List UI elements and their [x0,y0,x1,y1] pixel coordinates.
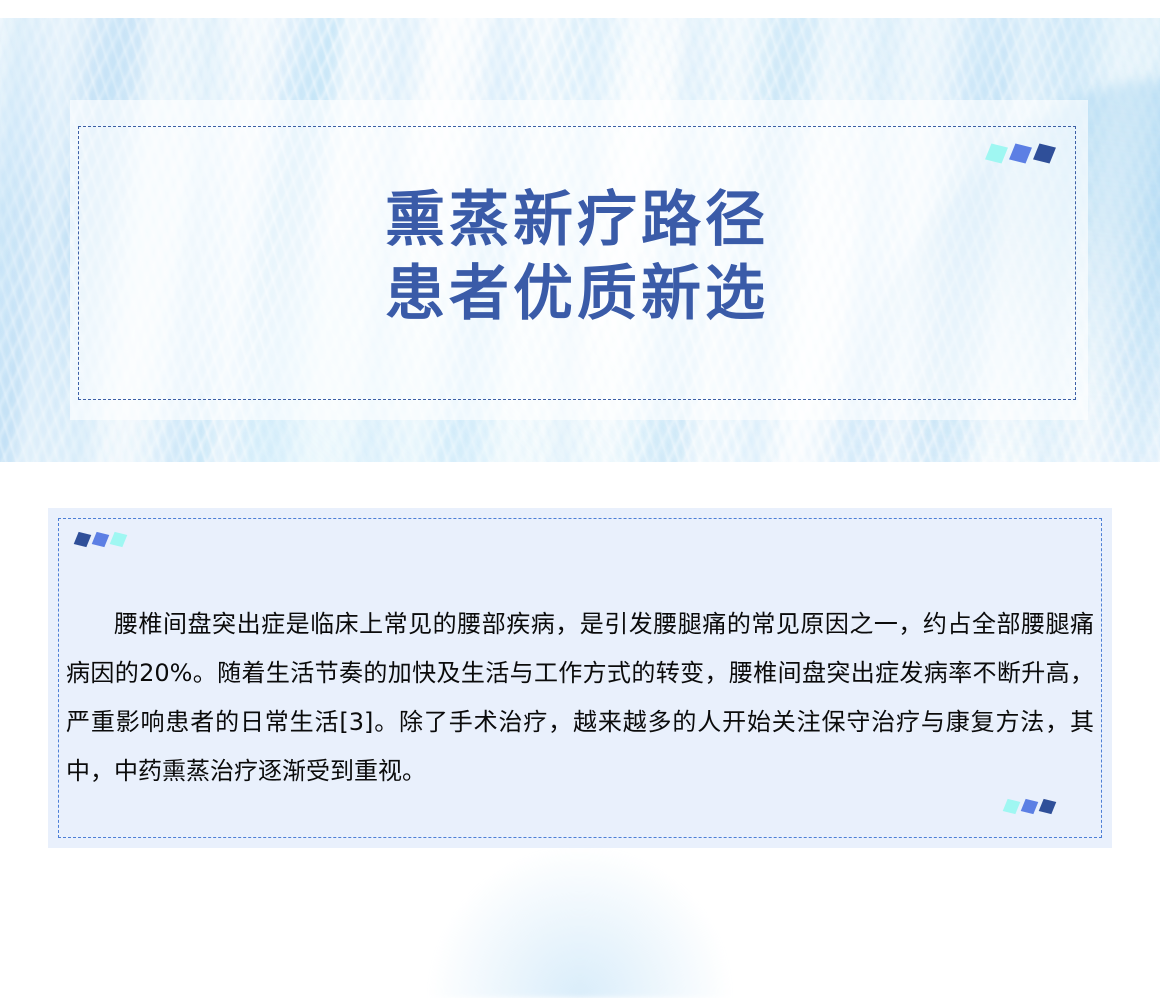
page-title: 熏蒸新疗路径 患者优质新选 [79,183,1075,331]
header-banner: 熏蒸新疗路径 患者优质新选 [0,18,1160,462]
body-paragraph: 腰椎间盘突出症是临床上常见的腰部疾病，是引发腰腿痛的常见原因之一，约占全部腰腿痛… [66,600,1094,796]
title-line-2: 患者优质新选 [79,257,1075,331]
diamond-navy-icon [1033,143,1056,163]
card-decor-diamonds-bottom-right [1005,800,1054,813]
diamond-navy-icon [74,532,92,547]
diamond-blue-icon [92,532,110,547]
diamond-cyan-icon [1003,799,1021,814]
diamond-cyan-icon [110,532,128,547]
diamond-blue-icon [1009,143,1032,163]
body-content-card: 腰椎间盘突出症是临床上常见的腰部疾病，是引发腰腿痛的常见原因之一，约占全部腰腿痛… [48,508,1112,848]
title-line-1: 熏蒸新疗路径 [79,183,1075,257]
header-decor-diamonds [988,145,1053,162]
diamond-navy-icon [1039,799,1057,814]
diamond-blue-icon [1021,799,1039,814]
title-dashed-frame: 熏蒸新疗路径 患者优质新选 [78,126,1076,400]
card-decor-diamonds-top-left [76,533,125,546]
diamond-cyan-icon [985,143,1008,163]
